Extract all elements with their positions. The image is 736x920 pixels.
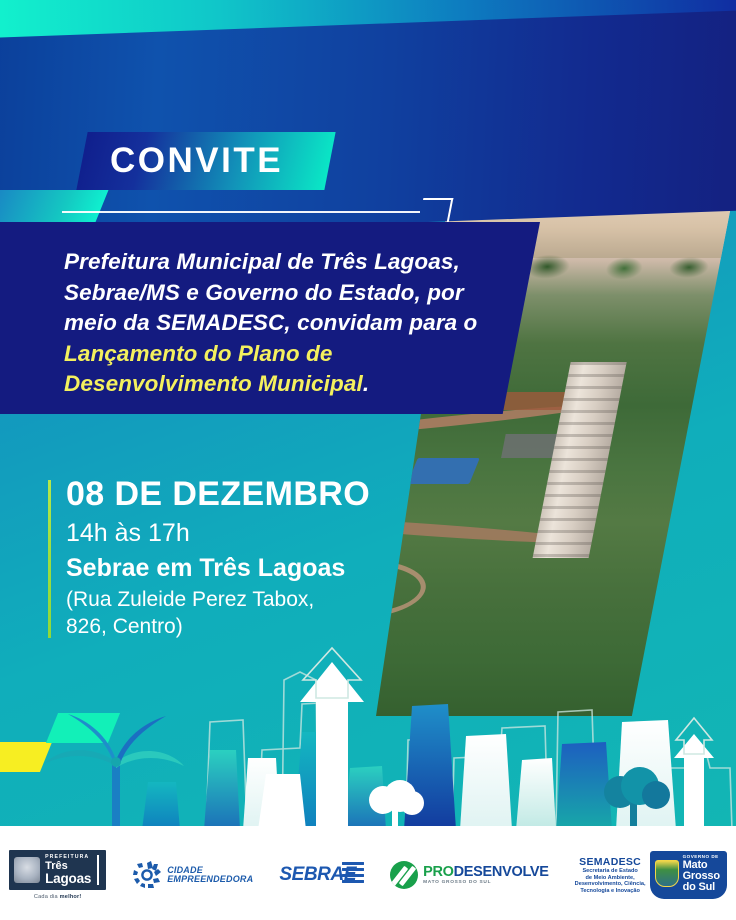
- logo-semadesc-governo-ms: SEMADESC Secretaria de Estado de Meio Am…: [575, 851, 727, 899]
- cidade-empreendedora-line-2: EMPREENDEDORA: [167, 875, 253, 884]
- event-address-line-2: 826, Centro): [66, 613, 466, 640]
- skyline-building: [516, 758, 556, 830]
- skyline-building: [142, 782, 180, 830]
- invite-paragraph-part-2: .: [363, 371, 369, 396]
- logo-prodesenvolve: PRODESENVOLVE MATO GROSSO DO SUL: [390, 861, 549, 889]
- city-skyline-illustration: [0, 640, 736, 830]
- skyline-building: [460, 734, 512, 830]
- skyline-building: [556, 742, 612, 830]
- governo-ms-line-3: do Sul: [683, 882, 720, 893]
- prefeitura-name-line-2: Lagoas: [45, 872, 91, 886]
- invite-paragraph-highlight: Lançamento do Plano de Desenvolvimento M…: [64, 341, 363, 397]
- logo-cidade-empreendedora: CIDADE EMPREENDEDORA: [132, 860, 253, 890]
- logo-prefeitura-tres-lagoas: PREFEITURA Três Lagoas Cada dia melhor!: [9, 850, 106, 901]
- sebrae-bars-icon: [342, 862, 364, 886]
- governo-ms-coat-of-arms-icon: [655, 860, 679, 887]
- prodesenvolve-subtitle: MATO GROSSO DO SUL: [423, 880, 549, 885]
- skyline-white-tower: [258, 774, 306, 830]
- background-upper-navy-band: [0, 10, 736, 238]
- invite-paragraph: Prefeitura Municipal de Três Lagoas, Seb…: [64, 247, 516, 400]
- skyline-building: [204, 750, 240, 830]
- prefeitura-tagline-bold: melhor!: [60, 894, 82, 900]
- event-venue: Sebrae em Três Lagoas: [66, 551, 466, 586]
- semadesc-sub-line-3: Desenvolvimento, Ciência,: [575, 881, 646, 888]
- prefeitura-crest-icon: [14, 857, 40, 883]
- prodesenvolve-word-green: PRO: [423, 864, 454, 880]
- event-time: 14h às 17h: [66, 515, 466, 551]
- logo-bar: PREFEITURA Três Lagoas Cada dia melhor!: [0, 830, 736, 920]
- event-date: 08 DE DEZEMBRO: [66, 474, 466, 515]
- prefeitura-tagline-plain: Cada dia: [34, 894, 60, 900]
- skyline-growth-arrow-small: [674, 718, 714, 830]
- event-invitation-poster: CONVITE Prefeitura Municipal de Três Lag…: [0, 0, 736, 920]
- convite-label: CONVITE: [110, 142, 330, 180]
- prodesenvolve-circle-icon: [390, 861, 418, 889]
- semadesc-sub-line-4: Tecnologia e Inovação: [575, 888, 646, 895]
- semadesc-title: SEMADESC: [575, 856, 646, 868]
- prodesenvolve-word-blue: DESENVOLVE: [454, 864, 549, 880]
- details-accent-bar: [48, 480, 51, 638]
- cidade-empreendedora-burst-icon: [132, 860, 162, 890]
- semadesc-sub-line-1: Secretaria de Estado: [575, 868, 646, 875]
- event-details: 08 DE DEZEMBRO 14h às 17h Sebrae em Três…: [66, 474, 466, 640]
- invite-paragraph-part-1: Prefeitura Municipal de Três Lagoas, Seb…: [64, 249, 477, 335]
- divider-line: [62, 211, 420, 213]
- event-address-line-1: (Rua Zuleide Perez Tabox,: [66, 586, 466, 613]
- semadesc-sub-line-2: de Meio Ambiente,: [575, 875, 646, 882]
- logo-sebrae: SEBRAE: [279, 864, 364, 886]
- governo-ms-badge: GOVERNO DE Mato Grosso do Sul: [650, 851, 727, 899]
- prefeitura-divider: [97, 855, 99, 885]
- prefeitura-tagline: Cada dia melhor!: [34, 894, 82, 900]
